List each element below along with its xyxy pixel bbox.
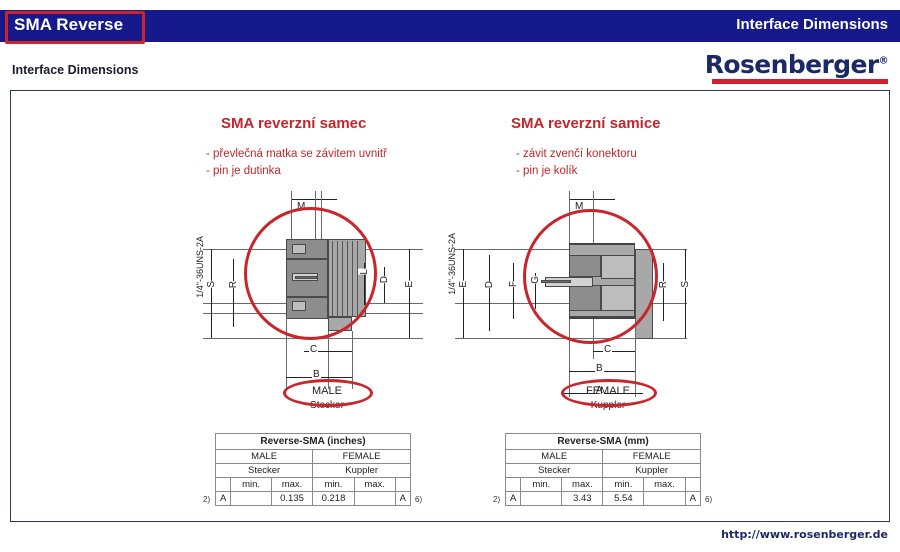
panel-note-male-1: - převlečná matka se závitem uvnitř [206, 146, 387, 163]
dim-line-m [291, 199, 337, 200]
logo-text: Rosenberger [705, 50, 879, 79]
table-value-max-female-mm [644, 492, 685, 506]
thread-hatch-6 [357, 241, 358, 317]
ext-line-b-right [352, 331, 353, 389]
body-part-body-top-f [569, 255, 601, 277]
thread-hatch-2 [337, 241, 338, 317]
body-part-tail-f [635, 249, 653, 339]
table-value-min-male-inches [231, 492, 271, 506]
ext-line-b-left [286, 317, 287, 389]
table-inches: Reverse-SMA (inches) MALE FEMALE Stecker… [215, 433, 411, 506]
dim-label-b-f: B [595, 363, 604, 374]
table-row-marker-right-inches: A [395, 492, 410, 506]
panel-notes-female: - závit zvenčí konektoru - pin je kolík [516, 146, 637, 179]
table-cell-empty-right-mm [685, 478, 700, 492]
thread-hatch-1 [332, 241, 333, 317]
footnote-right-mm: 6) [705, 495, 712, 504]
content-frame: SMA reverzní samec - převlečná matka se … [10, 90, 890, 522]
table-header-max-male-mm: max. [562, 478, 603, 492]
panel-note-female-1: - závit zvenčí konektoru [516, 146, 637, 163]
body-part-body-bottom-f [569, 285, 601, 311]
panel-title-male: SMA reverzní samec [221, 115, 366, 132]
table-header-max-female-mm: max. [644, 478, 685, 492]
table-row: Stecker Kuppler [506, 464, 701, 478]
page-title: SMA Reverse [14, 15, 123, 35]
ext-line-c-left-f [593, 319, 594, 359]
table-row: min. max. min. max. [216, 478, 411, 492]
dim-line-d-f [489, 255, 490, 331]
dim-line-c-f [593, 351, 635, 352]
table-row: A 0.135 0.218 A [216, 492, 411, 506]
table-value-max-male-inches: 0.135 [271, 492, 312, 506]
gender-sublabel-female: Kuppler [573, 400, 643, 411]
header-right-title: Interface Dimensions [736, 16, 888, 33]
dim-line-r [233, 259, 234, 327]
thread-spec-female: 1/4"-36UNS-2A [447, 233, 457, 295]
dim-label-l: L [358, 269, 371, 275]
table-subheader-kuppler-mm: Kuppler [603, 464, 701, 478]
dim-line-s-f [685, 249, 686, 338]
gender-sublabel-male: Stecker [297, 400, 357, 411]
table-row: MALE FEMALE [216, 450, 411, 464]
table-header-female-mm: FEMALE [603, 450, 701, 464]
footer-url[interactable]: http://www.rosenberger.de [721, 528, 888, 541]
table-header-min-female-inches: min. [313, 478, 354, 492]
table-row: Reverse-SMA (inches) [216, 434, 411, 450]
thread-hatch-4 [347, 241, 348, 317]
dim-label-f-f: F [507, 281, 520, 287]
table-value-min-female-mm: 5.54 [603, 492, 644, 506]
dim-label-c: C [309, 344, 318, 355]
dim-label-r-f: R [657, 281, 670, 288]
body-part-inner-bottom [292, 301, 306, 311]
dim-label-c-f: C [603, 344, 612, 355]
registered-trademark-icon: ® [879, 56, 888, 67]
title-bar: SMA Reverse Interface Dimensions [0, 10, 900, 42]
panel-notes-male: - převlečná matka se závitem uvnitř - pi… [206, 146, 387, 179]
thread-hatch-5 [352, 241, 353, 317]
panel-note-male-2: - pin je dutinka [206, 163, 387, 180]
table-header-male-mm: MALE [506, 450, 603, 464]
body-part-inner-top [292, 244, 306, 254]
table-header-male-inches: MALE [216, 450, 313, 464]
table-cell-empty-right-inches [395, 478, 410, 492]
dim-line-m-f [569, 199, 615, 200]
dim-line-e-f [463, 249, 464, 338]
ref-line-lower [203, 338, 423, 339]
table-subheader-kuppler-inches: Kuppler [313, 464, 411, 478]
dim-label-e-f: E [457, 281, 470, 288]
logo-underline-bar [712, 79, 888, 84]
dim-line-s [211, 249, 212, 338]
rosenberger-logo: Rosenberger® [705, 52, 888, 84]
table-header-max-male-inches: max. [271, 478, 312, 492]
drawing-female: M 1/4"-36UNS-2A E D F G R S [441, 181, 701, 421]
body-part-inner-bottom-f [601, 285, 635, 311]
table-caption-mm: Reverse-SMA (mm) [506, 434, 701, 450]
subheader-label: Interface Dimensions [12, 63, 138, 77]
dim-label-d: D [378, 276, 391, 283]
table-cell-empty-left-inches [216, 478, 231, 492]
table-subheader-stecker-inches: Stecker [216, 464, 313, 478]
dim-label-s: S [205, 281, 218, 288]
dim-label-s-f: S [679, 281, 692, 288]
table-subheader-stecker-mm: Stecker [506, 464, 603, 478]
body-part-pin-socket [295, 276, 317, 279]
table-header-min-female-mm: min. [603, 478, 644, 492]
panel-title-female: SMA reverzní samice [511, 115, 661, 132]
panel-note-female-2: - pin je kolík [516, 163, 637, 180]
table-header-max-female-inches: max. [354, 478, 395, 492]
gender-label-female: FEMALE [573, 385, 643, 397]
ext-line-c-right [328, 331, 329, 389]
thread-spec-male: 1/4"-36UNS-2A [195, 236, 205, 298]
thread-outer-top-f [569, 243, 635, 245]
table-row-marker-right-mm: A [685, 492, 700, 506]
table-row-marker-left-inches: A [216, 492, 231, 506]
table-value-min-male-mm [521, 492, 562, 506]
table-row: MALE FEMALE [506, 450, 701, 464]
body-part-step [328, 317, 352, 331]
table-row: Stecker Kuppler [216, 464, 411, 478]
logo-wordmark: Rosenberger® [705, 52, 888, 77]
footnote-left-inches: 2) [203, 495, 210, 504]
table-value-max-male-mm: 3.43 [562, 492, 603, 506]
dim-label-m-f: M [574, 201, 584, 212]
table-row: min. max. min. max. [506, 478, 701, 492]
table-header-min-male-inches: min. [231, 478, 271, 492]
table-value-max-female-inches [354, 492, 395, 506]
footnote-right-inches: 6) [415, 495, 422, 504]
dim-label-b: B [312, 369, 321, 380]
body-part-pin-tip-f [541, 280, 571, 283]
table-header-min-male-mm: min. [521, 478, 562, 492]
dim-label-d-f: D [483, 281, 496, 288]
dim-label-r: R [227, 281, 240, 288]
dim-line-e [409, 249, 410, 338]
dim-line-d [384, 267, 385, 303]
dim-label-e: E [403, 281, 416, 288]
table-mm: Reverse-SMA (mm) MALE FEMALE Stecker Kup… [505, 433, 701, 506]
dim-line-f-f [513, 263, 514, 319]
thread-hatch-3 [342, 241, 343, 317]
table-header-female-inches: FEMALE [313, 450, 411, 464]
table-value-min-female-inches: 0.218 [313, 492, 354, 506]
dim-line-r-f [663, 263, 664, 321]
table-row: Reverse-SMA (mm) [506, 434, 701, 450]
ext-line-a-left-f [569, 319, 570, 397]
body-part-inner-top-f [601, 255, 635, 279]
table-caption-inches: Reverse-SMA (inches) [216, 434, 411, 450]
table-row-marker-left-mm: A [506, 492, 521, 506]
table-row: A 3.43 5.54 A [506, 492, 701, 506]
dim-label-m: M [296, 201, 306, 212]
footnote-left-mm: 2) [493, 495, 500, 504]
table-cell-empty-left-mm [506, 478, 521, 492]
gender-label-male: MALE [297, 385, 357, 397]
thread-outer-bottom-f [569, 317, 635, 319]
